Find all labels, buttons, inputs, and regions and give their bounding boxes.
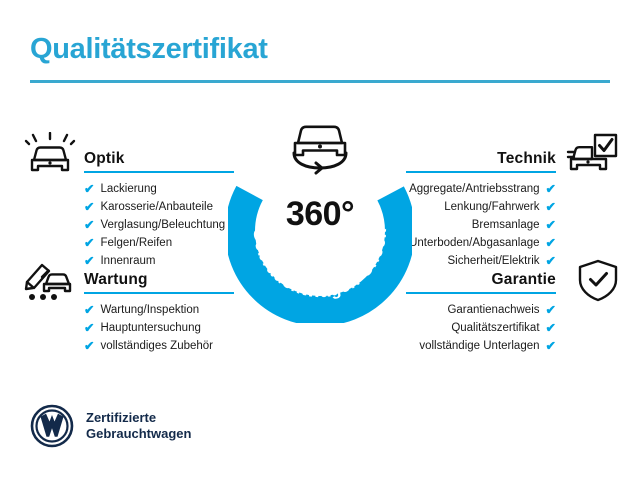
section-header: Technik	[406, 143, 556, 173]
shield-check-icon	[572, 258, 624, 304]
list-item: ✔Karosserie/Anbauteile	[84, 198, 234, 216]
list-item: Lenkung/Fahrwerk✔	[406, 198, 556, 216]
list-item-label: Qualitätszertifikat	[451, 319, 539, 337]
badge-value: 360°	[228, 195, 412, 234]
list-item-label: Unterboden/Abgasanlage	[409, 234, 539, 252]
checklist-technik: Aggregate/Antriebsstrang✔ Lenkung/Fahrwe…	[406, 180, 556, 270]
qualitaetszertifikat-page: Qualitätszertifikat	[0, 0, 640, 480]
list-item-label: Felgen/Reifen	[100, 234, 172, 252]
section-underline	[406, 171, 556, 174]
section-underline	[84, 292, 234, 295]
list-item: Bremsanlage✔	[406, 216, 556, 234]
list-item-label: Karosserie/Anbauteile	[100, 198, 213, 216]
checklist-optik: ✔Lackierung ✔Karosserie/Anbauteile ✔Verg…	[84, 180, 234, 270]
360-check-badge: Gebrauchtwagen-Check 360°	[228, 139, 412, 323]
section-header: Wartung	[84, 264, 234, 294]
section-garantie: Garantie Garantienachweis✔ Qualitätszert…	[406, 264, 556, 355]
check-icon: ✔	[546, 183, 556, 196]
section-title-garantie: Garantie	[492, 271, 557, 289]
section-title-optik: Optik	[84, 150, 125, 168]
list-item-label: Lenkung/Fahrwerk	[444, 198, 539, 216]
section-technik: Technik Aggregate/Antriebsstrang✔ Lenkun…	[406, 143, 556, 270]
list-item-label: vollständige Unterlagen	[419, 337, 539, 355]
list-item: ✔Wartung/Inspektion	[84, 301, 234, 319]
list-item-label: Hauptuntersuchung	[100, 319, 200, 337]
check-icon: ✔	[546, 237, 556, 250]
list-item: ✔Felgen/Reifen	[84, 234, 234, 252]
list-item: Aggregate/Antriebsstrang✔	[406, 180, 556, 198]
check-icon: ✔	[546, 219, 556, 232]
check-icon: ✔	[84, 201, 94, 214]
car-rotate-icon	[278, 115, 362, 175]
brand-line-1: Zertifizierte	[86, 410, 191, 426]
list-item: ✔Lackierung	[84, 180, 234, 198]
list-item-label: vollständiges Zubehör	[100, 337, 213, 355]
list-item-label: Lackierung	[100, 180, 156, 198]
list-item: ✔Hauptuntersuchung	[84, 319, 234, 337]
check-icon: ✔	[84, 304, 94, 317]
car-checkbox-icon	[566, 132, 618, 178]
list-item-label: Bremsanlage	[472, 216, 540, 234]
car-shine-icon	[24, 132, 76, 178]
check-icon: ✔	[84, 237, 94, 250]
list-item: ✔vollständiges Zubehör	[84, 337, 234, 355]
list-item: Unterboden/Abgasanlage✔	[406, 234, 556, 252]
list-item-label: Aggregate/Antriebsstrang	[409, 180, 539, 198]
check-icon: ✔	[546, 340, 556, 353]
section-underline	[406, 292, 556, 295]
page-title: Qualitätszertifikat	[30, 33, 268, 66]
list-item-label: Garantienachweis	[447, 301, 539, 319]
list-item-label: Wartung/Inspektion	[100, 301, 199, 319]
title-divider	[30, 80, 610, 83]
section-optik: Optik ✔Lackierung ✔Karosserie/Anbauteile…	[84, 143, 234, 270]
section-header: Optik	[84, 143, 234, 173]
list-item: vollständige Unterlagen✔	[406, 337, 556, 355]
section-title-technik: Technik	[497, 150, 556, 168]
checklist-wartung: ✔Wartung/Inspektion ✔Hauptuntersuchung ✔…	[84, 301, 234, 355]
section-underline	[84, 171, 234, 174]
pen-car-icon	[22, 258, 74, 304]
check-icon: ✔	[546, 322, 556, 335]
check-icon: ✔	[84, 322, 94, 335]
checklist-garantie: Garantienachweis✔ Qualitätszertifikat✔ v…	[406, 301, 556, 355]
section-wartung: Wartung ✔Wartung/Inspektion ✔Hauptunters…	[84, 264, 234, 355]
list-item: Qualitätszertifikat✔	[406, 319, 556, 337]
check-icon: ✔	[546, 304, 556, 317]
list-item: ✔Verglasung/Beleuchtung	[84, 216, 234, 234]
check-icon: ✔	[84, 340, 94, 353]
check-icon: ✔	[546, 201, 556, 214]
list-item: Garantienachweis✔	[406, 301, 556, 319]
section-header: Garantie	[406, 264, 556, 294]
check-icon: ✔	[84, 183, 94, 196]
brand-line-2: Gebrauchtwagen	[86, 426, 191, 442]
list-item-label: Verglasung/Beleuchtung	[100, 216, 225, 234]
section-title-wartung: Wartung	[84, 271, 148, 289]
vw-logo	[30, 404, 74, 448]
brand-footer: Zertifizierte Gebrauchtwagen	[30, 404, 191, 448]
check-icon: ✔	[84, 219, 94, 232]
brand-text: Zertifizierte Gebrauchtwagen	[86, 410, 191, 442]
